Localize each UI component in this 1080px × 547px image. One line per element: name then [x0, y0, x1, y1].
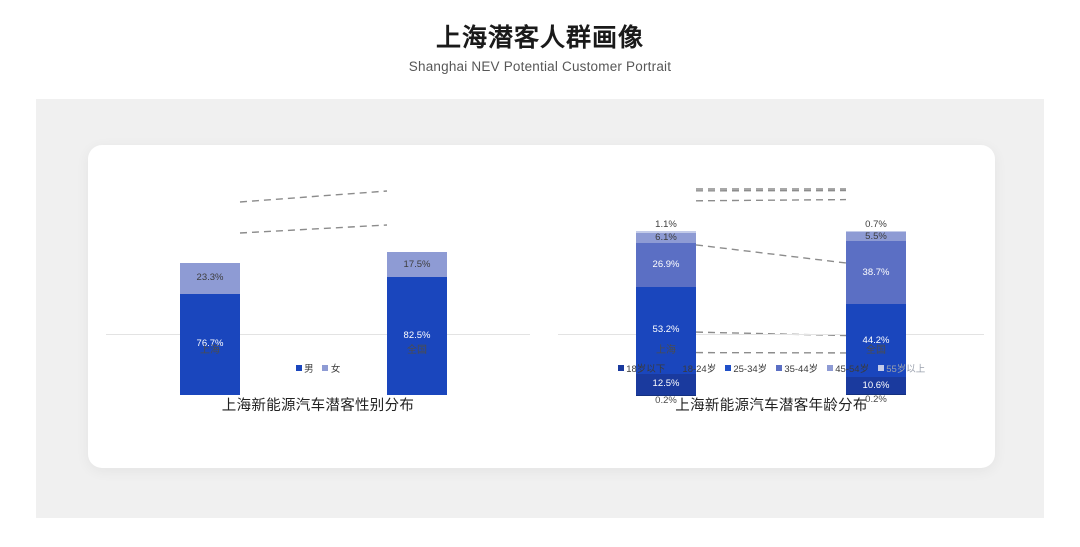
chart-gender-distribution: 23.3% 76.7% 上海 17.5% 82.5% 全国 [88, 145, 548, 468]
gender-plot-area: 23.3% 76.7% 上海 17.5% 82.5% 全国 [88, 145, 548, 395]
legend-swatch-icon [296, 365, 302, 371]
gender-connector-lines [88, 145, 548, 395]
gender-legend-item-male[interactable]: 男 [296, 361, 314, 375]
legend-swatch-icon [674, 365, 680, 371]
age-legend-item-under18[interactable]: 18岁以下 [618, 361, 666, 375]
page-title: 上海潜客人群画像 [0, 22, 1080, 54]
age-legend-label-under18: 18岁以下 [626, 364, 665, 375]
age-axis-line [558, 334, 984, 335]
age-legend-label-25-34: 25-34岁 [733, 364, 767, 375]
slide-page: 上海潜客人群画像 Shanghai NEV Potential Customer… [0, 0, 1080, 547]
chart-age-distribution: 1.1% 6.1% 26.9% 53.2% 12.5% 0. [548, 145, 995, 468]
gender-legend-label-male: 男 [304, 364, 314, 375]
gender-seg-female-national[interactable]: 17.5% [387, 252, 447, 277]
age-seg-18-24-shanghai[interactable]: 12.5% [636, 374, 696, 395]
gender-label-male-national: 82.5% [404, 331, 431, 341]
age-label-45-54-national: 5.5% [865, 232, 887, 242]
age-seg-45-54-shanghai[interactable]: 6.1% [636, 233, 696, 243]
legend-swatch-icon [725, 365, 731, 371]
gender-label-female-shanghai: 23.3% [197, 273, 224, 283]
age-seg-45-54-national[interactable]: 5.5% [846, 232, 906, 241]
age-label-18-24-national: 10.6% [863, 381, 890, 391]
age-legend-label-45-54: 45-54岁 [835, 364, 869, 375]
age-legend-item-45-54[interactable]: 45-54岁 [827, 361, 869, 375]
legend-swatch-icon [878, 365, 884, 371]
age-legend-item-35-44[interactable]: 35-44岁 [776, 361, 818, 375]
age-category-shanghai: 上海 [621, 341, 711, 356]
gender-seg-male-national[interactable]: 82.5% [387, 277, 447, 395]
legend-swatch-icon [827, 365, 833, 371]
gender-legend: 男 女 [88, 361, 548, 375]
age-seg-35-44-national[interactable]: 38.7% [846, 241, 906, 304]
age-label-55plus-shanghai: 1.1% [636, 220, 696, 230]
age-legend-label-35-44: 35-44岁 [784, 364, 818, 375]
charts-card: 23.3% 76.7% 上海 17.5% 82.5% 全国 [88, 145, 995, 468]
age-label-25-34-shanghai: 53.2% [653, 325, 680, 335]
gender-label-female-national: 17.5% [404, 260, 431, 270]
age-legend-label-18-24: 18-24岁 [682, 364, 716, 375]
gender-chart-caption: 上海新能源汽车潜客性别分布 [88, 394, 548, 415]
gender-legend-label-female: 女 [331, 364, 341, 375]
gender-axis-line [106, 334, 530, 335]
page-header: 上海潜客人群画像 Shanghai NEV Potential Customer… [0, 22, 1080, 77]
gender-category-shanghai: 上海 [165, 341, 255, 356]
age-label-18-24-shanghai: 12.5% [653, 379, 680, 389]
age-label-45-54-shanghai: 6.1% [655, 233, 677, 243]
age-connector-lines [548, 145, 995, 395]
age-chart-caption: 上海新能源汽车潜客年龄分布 [548, 394, 995, 415]
age-legend-item-18-24[interactable]: 18-24岁 [674, 361, 716, 375]
gender-seg-female-shanghai[interactable]: 23.3% [180, 263, 240, 294]
legend-swatch-icon [776, 365, 782, 371]
age-legend-item-55plus[interactable]: 55岁以上 [878, 361, 926, 375]
page-subtitle: Shanghai NEV Potential Customer Portrait [0, 57, 1080, 77]
age-label-35-44-national: 38.7% [863, 268, 890, 278]
gender-category-national: 全国 [372, 341, 462, 356]
gender-legend-item-female[interactable]: 女 [322, 361, 340, 375]
age-plot-area: 1.1% 6.1% 26.9% 53.2% 12.5% 0. [548, 145, 995, 395]
age-legend: 18岁以下 18-24岁 25-34岁 35-44岁 45-54岁 55岁以上 [548, 361, 995, 375]
age-label-55plus-national: 0.7% [846, 220, 906, 230]
legend-swatch-icon [322, 365, 328, 371]
age-seg-35-44-shanghai[interactable]: 26.9% [636, 243, 696, 287]
age-legend-item-25-34[interactable]: 25-34岁 [725, 361, 767, 375]
age-legend-label-55plus: 55岁以上 [886, 364, 925, 375]
age-seg-18-24-national[interactable]: 10.6% [846, 377, 906, 394]
age-label-35-44-shanghai: 26.9% [653, 260, 680, 270]
legend-swatch-icon [618, 365, 624, 371]
gender-bar-shanghai[interactable]: 23.3% 76.7% [180, 263, 240, 395]
age-category-national: 全国 [831, 341, 921, 356]
